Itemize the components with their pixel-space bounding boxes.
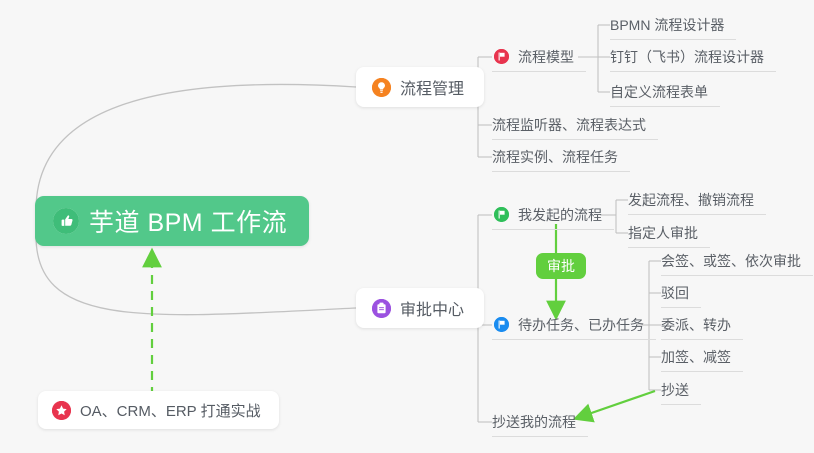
group-todo-done-tasks-label: 待办任务、已办任务 bbox=[518, 315, 644, 335]
group-todo-done-tasks[interactable]: 待办任务、已办任务 bbox=[492, 310, 656, 340]
group-my-initiated-flows-label: 我发起的流程 bbox=[518, 205, 602, 225]
root-label: 芋道 BPM 工作流 bbox=[89, 203, 287, 239]
branch-approval-center[interactable]: 审批中心 bbox=[356, 288, 484, 328]
leaf-delegate-transfer[interactable]: 委派、转办 bbox=[661, 310, 743, 340]
clipboard-icon bbox=[372, 299, 391, 318]
arrow-cc-to-cc-my-flow bbox=[577, 391, 655, 418]
callout-integration-practice-label: OA、CRM、ERP 打通实战 bbox=[80, 400, 261, 421]
branch-approval-center-label: 审批中心 bbox=[400, 296, 464, 320]
leaf-cc-my-flows[interactable]: 抄送我的流程 bbox=[492, 407, 588, 437]
callout-integration-practice[interactable]: OA、CRM、ERP 打通实战 bbox=[38, 391, 279, 429]
leaf-delegate-transfer-label: 委派、转办 bbox=[661, 315, 731, 335]
group-my-initiated-flows[interactable]: 我发起的流程 bbox=[492, 200, 614, 230]
mindmap-canvas: 芋道 BPM 工作流 流程管理 流程模型 BPMN 流程设计器 钉钉（飞书 bbox=[0, 0, 814, 453]
lightbulb-icon bbox=[372, 78, 391, 97]
approval-flow-badge-label: 审批 bbox=[547, 258, 575, 274]
leaf-start-cancel-flow-label: 发起流程、撤销流程 bbox=[628, 190, 754, 210]
leaf-reject[interactable]: 驳回 bbox=[661, 278, 701, 308]
link-root-to-approval-center bbox=[36, 236, 356, 315]
approval-flow-badge[interactable]: 审批 bbox=[536, 253, 586, 279]
leaf-dingtalk-designer-label: 钉钉（飞书）流程设计器 bbox=[610, 47, 764, 67]
leaf-bpmn-designer[interactable]: BPMN 流程设计器 bbox=[610, 10, 736, 40]
leaf-carbon-copy-label: 抄送 bbox=[661, 380, 689, 400]
leaf-custom-form-label: 自定义流程表单 bbox=[610, 82, 708, 102]
leaf-countersign[interactable]: 会签、或签、依次审批 bbox=[661, 246, 813, 276]
leaf-cc-my-flows-label: 抄送我的流程 bbox=[492, 412, 576, 432]
group-process-model-label: 流程模型 bbox=[518, 47, 574, 67]
link-root-to-process-management bbox=[36, 84, 356, 210]
leaf-process-listener[interactable]: 流程监听器、流程表达式 bbox=[492, 110, 658, 140]
leaf-start-cancel-flow[interactable]: 发起流程、撤销流程 bbox=[628, 185, 766, 215]
leaf-assigned-approver-label: 指定人审批 bbox=[628, 223, 698, 243]
leaf-add-remove-sign[interactable]: 加签、减签 bbox=[661, 342, 743, 372]
leaf-bpmn-designer-label: BPMN 流程设计器 bbox=[610, 15, 724, 35]
branch-process-management[interactable]: 流程管理 bbox=[356, 67, 484, 107]
leaf-assigned-approver[interactable]: 指定人审批 bbox=[628, 218, 710, 248]
branch-process-management-label: 流程管理 bbox=[400, 75, 464, 99]
flag-icon bbox=[494, 317, 509, 332]
leaf-custom-form[interactable]: 自定义流程表单 bbox=[610, 77, 720, 107]
leaf-process-instance[interactable]: 流程实例、流程任务 bbox=[492, 142, 630, 172]
leaf-add-remove-sign-label: 加签、减签 bbox=[661, 347, 731, 367]
leaf-countersign-label: 会签、或签、依次审批 bbox=[661, 251, 801, 271]
group-process-model[interactable]: 流程模型 bbox=[492, 42, 586, 72]
leaf-dingtalk-designer[interactable]: 钉钉（飞书）流程设计器 bbox=[610, 42, 776, 72]
leaf-process-instance-label: 流程实例、流程任务 bbox=[492, 147, 618, 167]
root-node[interactable]: 芋道 BPM 工作流 bbox=[35, 196, 309, 246]
flag-icon bbox=[494, 207, 509, 222]
leaf-reject-label: 驳回 bbox=[661, 283, 689, 303]
flag-icon bbox=[494, 49, 509, 64]
star-icon bbox=[52, 401, 71, 420]
thumbs-up-icon bbox=[53, 208, 79, 234]
leaf-carbon-copy[interactable]: 抄送 bbox=[661, 375, 701, 405]
leaf-process-listener-label: 流程监听器、流程表达式 bbox=[492, 115, 646, 135]
